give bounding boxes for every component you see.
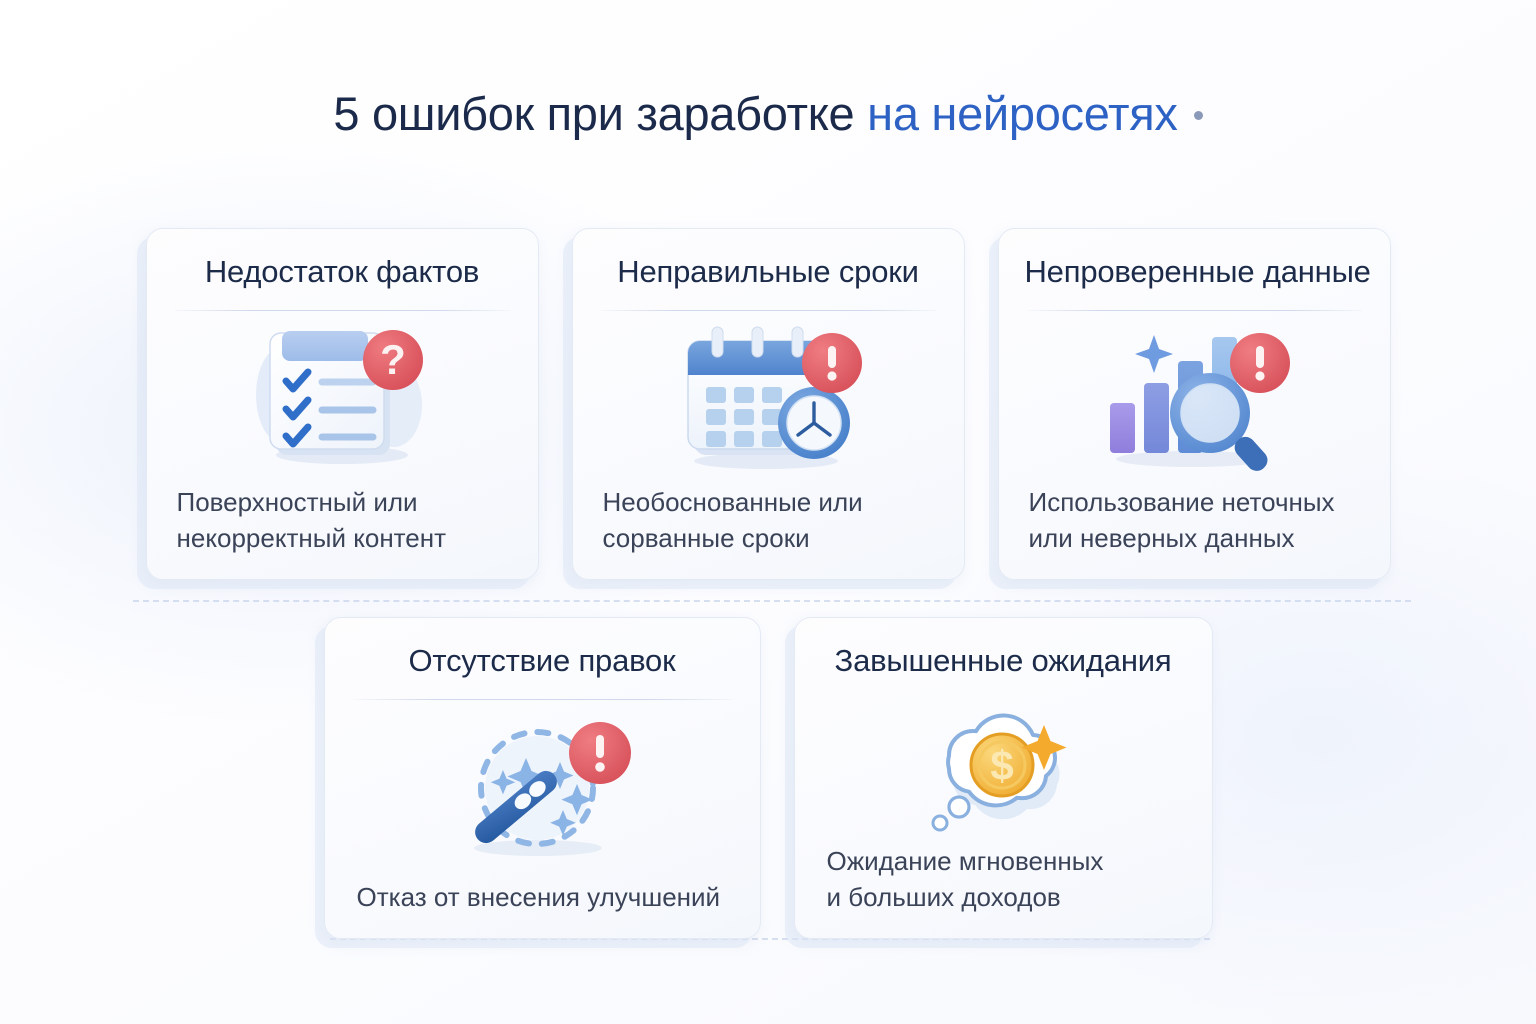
card-nedostatok-faktov[interactable]: Недостаток фактов bbox=[146, 228, 539, 580]
infographic-page: 5 ошибок при заработке на нейросетях Нед… bbox=[0, 0, 1536, 1024]
title-main: 5 ошибок при заработке bbox=[333, 87, 867, 140]
card-neproverennye-dannye[interactable]: Непроверенные данные bbox=[998, 228, 1391, 580]
card-nepravilnye-sroki[interactable]: Неправильные сроки bbox=[572, 228, 965, 580]
card-zavyshennye-ozhidaniya[interactable]: Завышенные ожидания $ bbox=[794, 617, 1213, 939]
row-divider-top bbox=[133, 600, 1411, 602]
checklist-clipboard-icon: ? bbox=[173, 311, 512, 485]
title-dot-icon bbox=[1194, 111, 1203, 120]
cards-row-top: Недостаток фактов bbox=[0, 228, 1536, 580]
card-title: Отсутствие правок bbox=[351, 644, 734, 678]
cards-row-bottom: Отсутствие правок bbox=[0, 617, 1536, 939]
title-text: 5 ошибок при заработке на нейросетях bbox=[333, 86, 1202, 141]
card-title: Непроверенные данные bbox=[1025, 255, 1364, 289]
bar-chart-magnifier-icon bbox=[1025, 311, 1364, 485]
thought-cloud-coin-icon: $ bbox=[821, 699, 1186, 844]
card-caption: Отказ от внесения улучшений bbox=[351, 880, 734, 916]
card-caption: Ожидание мгновенных и больших доходов bbox=[821, 844, 1186, 916]
card-title: Недостаток фактов bbox=[173, 255, 512, 289]
card-title: Неправильные сроки bbox=[599, 255, 938, 289]
card-caption: Использование неточных или неверных данн… bbox=[1025, 485, 1364, 557]
card-otsutstvie-pravok[interactable]: Отсутствие правок bbox=[324, 617, 761, 939]
magic-wand-sparkles-icon bbox=[351, 700, 734, 880]
card-title: Завышенные ожидания bbox=[821, 644, 1186, 678]
svg-text:$: $ bbox=[990, 742, 1013, 789]
page-title: 5 ошибок при заработке на нейросетях bbox=[0, 86, 1536, 141]
card-caption: Необоснованные или сорванные сроки bbox=[599, 485, 938, 557]
title-accent: на нейросетях bbox=[867, 87, 1177, 140]
card-caption: Поверхностный или некорректный контент bbox=[173, 485, 512, 557]
badge-symbol: ? bbox=[380, 336, 406, 383]
calendar-clock-icon bbox=[599, 311, 938, 485]
